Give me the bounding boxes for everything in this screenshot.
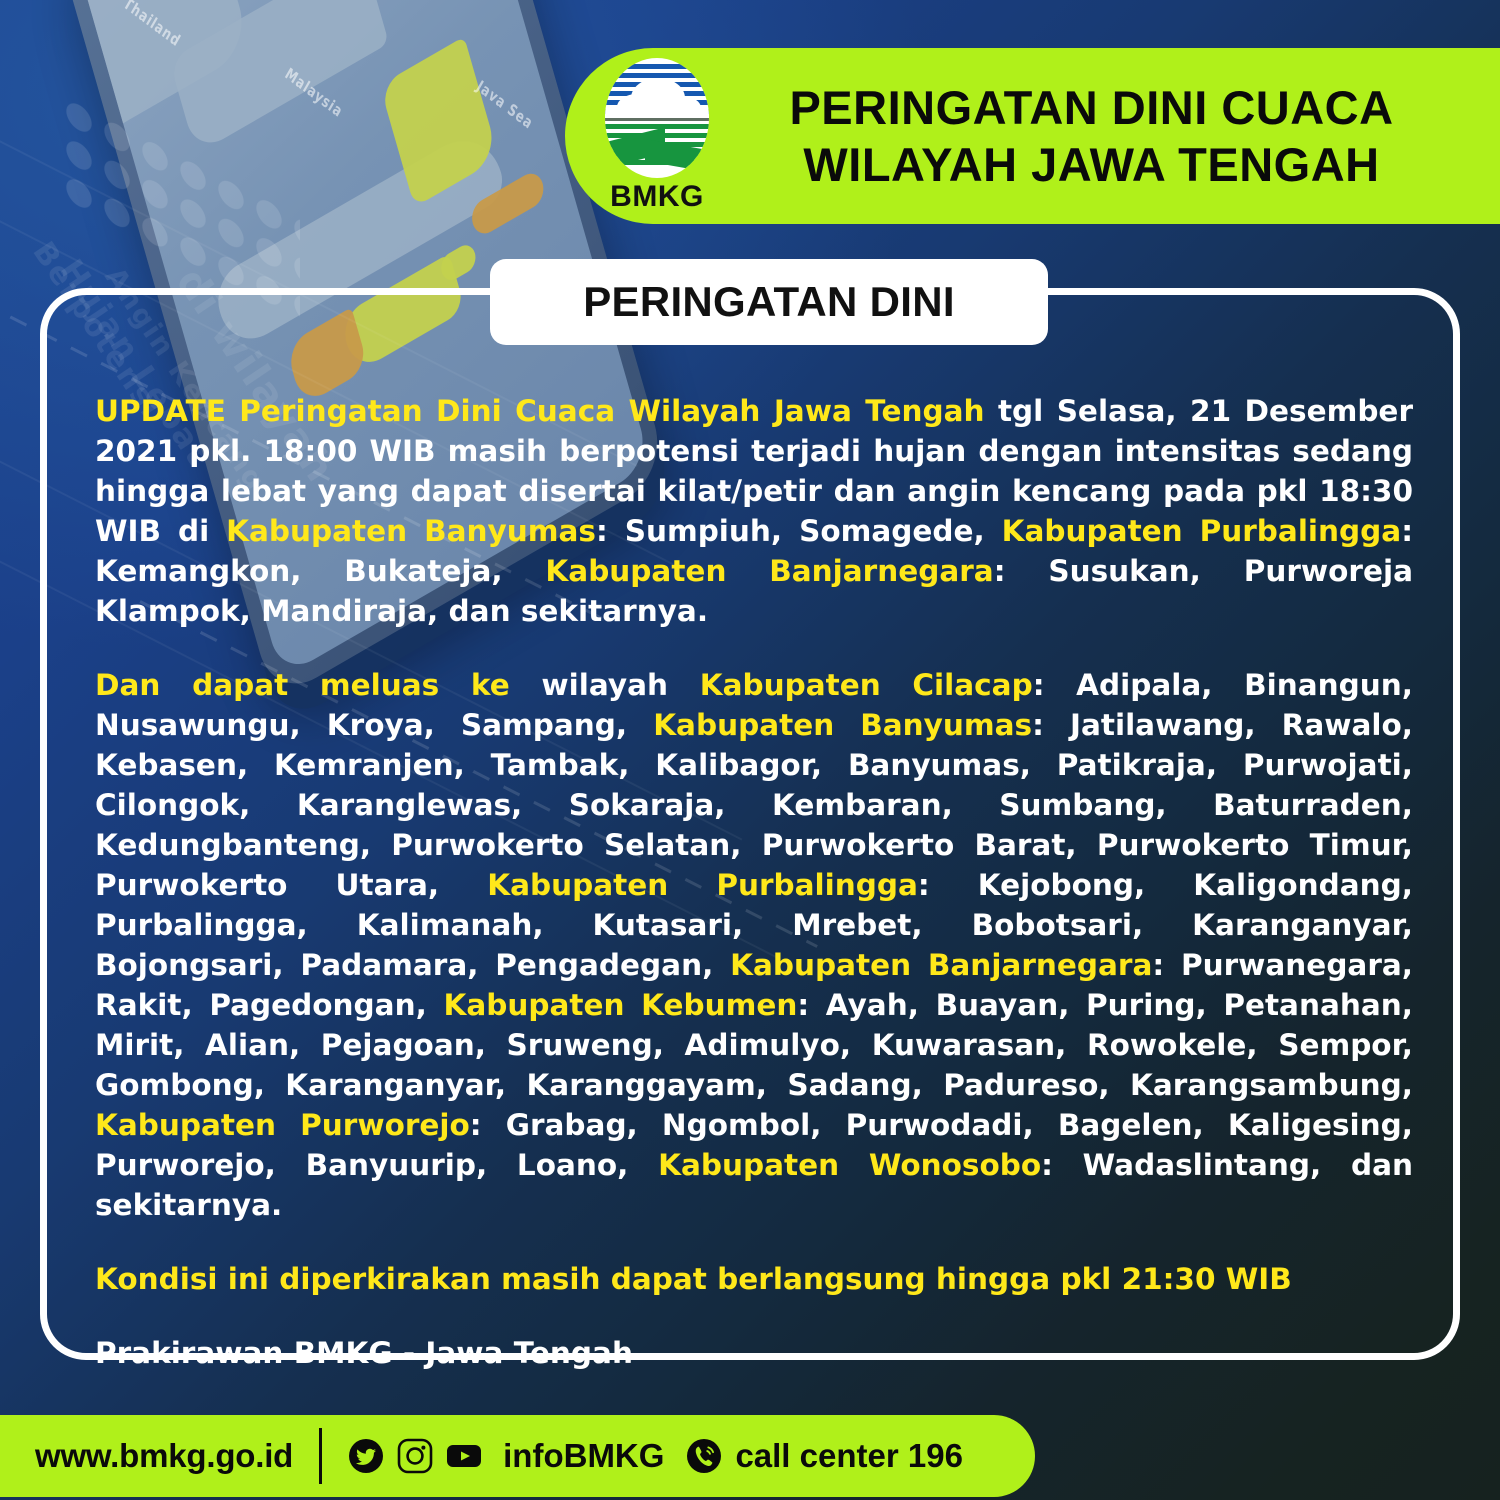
phone-icon[interactable] bbox=[686, 1438, 722, 1474]
bmkg-logo: BMKG bbox=[591, 58, 723, 214]
instagram-icon[interactable] bbox=[397, 1438, 433, 1474]
warning-card: PERINGATAN DINI UPDATE Peringatan Dini C… bbox=[40, 288, 1460, 1360]
p2-regency-kebumen: Kabupaten Kebumen bbox=[443, 988, 797, 1022]
twitter-icon[interactable] bbox=[348, 1438, 384, 1474]
map-label-thailand: Thailand bbox=[120, 0, 183, 51]
youtube-icon[interactable] bbox=[446, 1438, 482, 1474]
p2-regency-wonosobo: Kabupaten Wonosobo bbox=[658, 1148, 1041, 1182]
p2-regency-purworejo: Kabupaten Purworejo bbox=[95, 1108, 470, 1142]
p2-regency-purbalingga: Kabupaten Purbalingga bbox=[487, 868, 918, 902]
p1-regency-banjarnegara: Kabupaten Banjarnegara bbox=[545, 554, 993, 588]
warning-tab: PERINGATAN DINI bbox=[490, 259, 1048, 345]
page-title-line-2: WILAYAH JAWA TENGAH bbox=[723, 136, 1460, 193]
p2-regency-cilacap: Kabupaten Cilacap bbox=[700, 668, 1033, 702]
paragraph-4-signature: Prakirawan BMKG - Jawa Tengah bbox=[95, 1333, 1413, 1373]
page-title-line-1: PERINGATAN DINI CUACA bbox=[723, 79, 1460, 136]
footer-call-center: call center 196 bbox=[735, 1437, 963, 1475]
footer-social-handle: infoBMKG bbox=[503, 1437, 664, 1475]
paragraph-2: Dan dapat meluas ke wilayah Kabupaten Ci… bbox=[95, 665, 1413, 1225]
warning-tab-label: PERINGATAN DINI bbox=[583, 278, 955, 326]
p1-regency-purbalingga: Kabupaten Purbalingga bbox=[1002, 514, 1402, 548]
bmkg-logo-text: BMKG bbox=[610, 180, 704, 214]
poster-root: Thailand Vietnam South China Sea Philipp… bbox=[0, 0, 1500, 1500]
paragraph-1: UPDATE Peringatan Dini Cuaca Wilayah Jaw… bbox=[95, 391, 1413, 631]
p1-regency-banyumas: Kabupaten Banyumas bbox=[226, 514, 596, 548]
warning-body-text: UPDATE Peringatan Dini Cuaca Wilayah Jaw… bbox=[95, 391, 1413, 1373]
footer-divider bbox=[319, 1428, 322, 1484]
p2-wilayah: wilayah bbox=[510, 668, 700, 702]
p2-lead: Dan dapat meluas ke bbox=[95, 668, 510, 702]
footer-bar: www.bmkg.go.id infoBMKG bbox=[0, 1415, 1035, 1497]
dot-grid-pattern bbox=[60, 89, 300, 321]
map-label-malaysia: Malaysia bbox=[282, 65, 346, 122]
bmkg-logo-disc-icon bbox=[605, 58, 709, 178]
p1-headline: UPDATE Peringatan Dini Cuaca Wilayah Jaw… bbox=[95, 394, 985, 428]
header-banner: BMKG PERINGATAN DINI CUACA WILAYAH JAWA … bbox=[565, 48, 1500, 224]
p1-banyumas-districts: : Sumpiuh, Somagede, bbox=[596, 514, 1002, 548]
footer-website-link[interactable]: www.bmkg.go.id bbox=[35, 1437, 293, 1475]
page-title: PERINGATAN DINI CUACA WILAYAH JAWA TENGA… bbox=[723, 79, 1500, 194]
map-label-java-sea: Java Sea bbox=[473, 78, 536, 134]
p2-regency-banjarnegara: Kabupaten Banjarnegara bbox=[730, 948, 1152, 982]
p2-regency-banyumas: Kabupaten Banyumas bbox=[653, 708, 1032, 742]
paragraph-3-duration: Kondisi ini diperkirakan masih dapat ber… bbox=[95, 1259, 1413, 1299]
